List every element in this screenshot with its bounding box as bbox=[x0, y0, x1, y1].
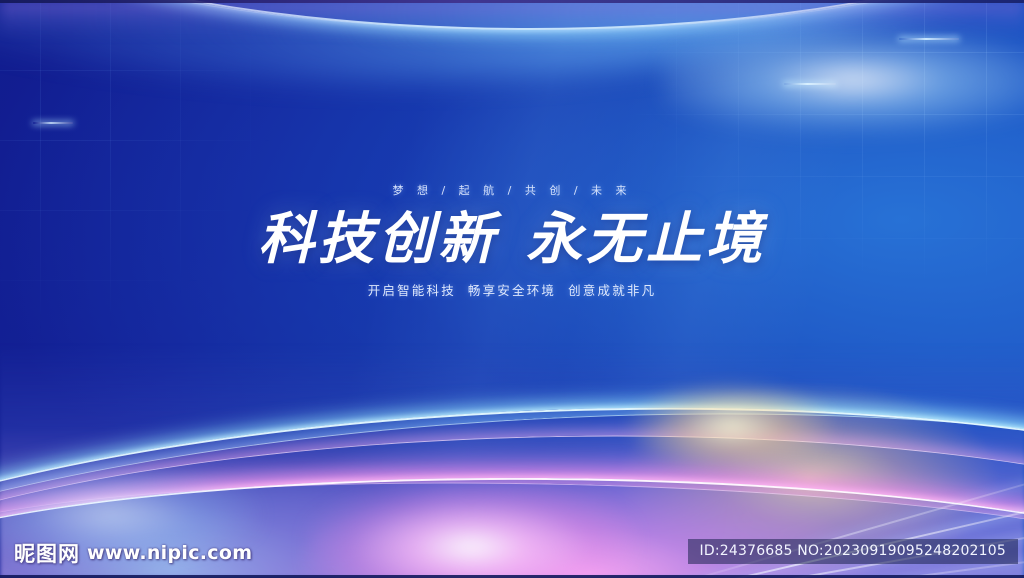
headline: 科技创新永无止境 bbox=[0, 209, 1024, 269]
top-right-hotspot bbox=[664, 20, 1024, 140]
aurora-pink-hotspot bbox=[306, 482, 636, 578]
aurora-gold-hotspot bbox=[624, 380, 839, 472]
image-id-badge: ID:24376685 NO:20230919095248202105 bbox=[688, 539, 1018, 564]
poster-text-block: 梦 想 / 起 航 / 共 创 / 未 来 科技创新永无止境 开启智能科技畅享安… bbox=[0, 182, 1024, 299]
top-edge-bar bbox=[0, 0, 1024, 3]
poster-canvas: 梦 想 / 起 航 / 共 创 / 未 来 科技创新永无止境 开启智能科技畅享安… bbox=[0, 0, 1024, 578]
headline-left: 科技创新 bbox=[258, 206, 498, 272]
subline-part-2: 畅享安全环境 bbox=[468, 283, 556, 298]
eyebrow-tagline: 梦 想 / 起 航 / 共 创 / 未 来 bbox=[0, 182, 1024, 198]
nipic-logo-cn: 昵图网 bbox=[14, 538, 80, 568]
nipic-logo-url: www.nipic.com bbox=[87, 542, 252, 564]
subline-part-1: 开启智能科技 bbox=[368, 283, 456, 298]
subline: 开启智能科技畅享安全环境创意成就非凡 bbox=[0, 280, 1024, 299]
subline-part-3: 创意成就非凡 bbox=[568, 283, 656, 298]
nipic-watermark[interactable]: 昵图网 www.nipic.com bbox=[14, 538, 252, 568]
headline-right: 永无止境 bbox=[526, 206, 766, 272]
